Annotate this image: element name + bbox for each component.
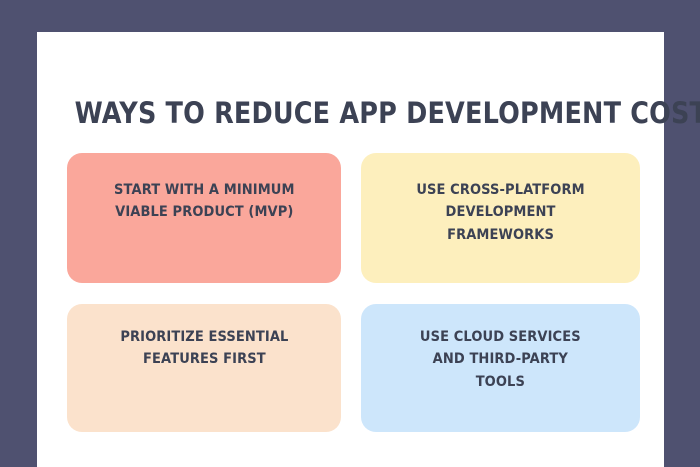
tip-card-cloud-services: Use cloud services and third-party tools <box>361 304 640 432</box>
tip-card-essential-features-label: Prioritize essential features first <box>120 326 288 371</box>
tip-card-essential-features: Prioritize essential features first <box>67 304 341 432</box>
infographic-poster: Ways to Reduce App Development Cost Star… <box>0 0 700 467</box>
tip-card-mvp-label: Start with a minimum viable product (MVP… <box>114 179 295 224</box>
tip-card-mvp: Start with a minimum viable product (MVP… <box>67 153 341 283</box>
tip-card-cross-platform: Use cross-platform development framework… <box>361 153 640 283</box>
tips-card-grid: Start with a minimum viable product (MVP… <box>67 153 640 433</box>
page-title: Ways to Reduce App Development Cost <box>75 99 627 128</box>
content-panel: Ways to Reduce App Development Cost Star… <box>37 32 664 467</box>
tip-card-cloud-services-label: Use cloud services and third-party tools <box>420 326 581 393</box>
tip-card-cross-platform-label: Use cross-platform development framework… <box>416 179 584 246</box>
